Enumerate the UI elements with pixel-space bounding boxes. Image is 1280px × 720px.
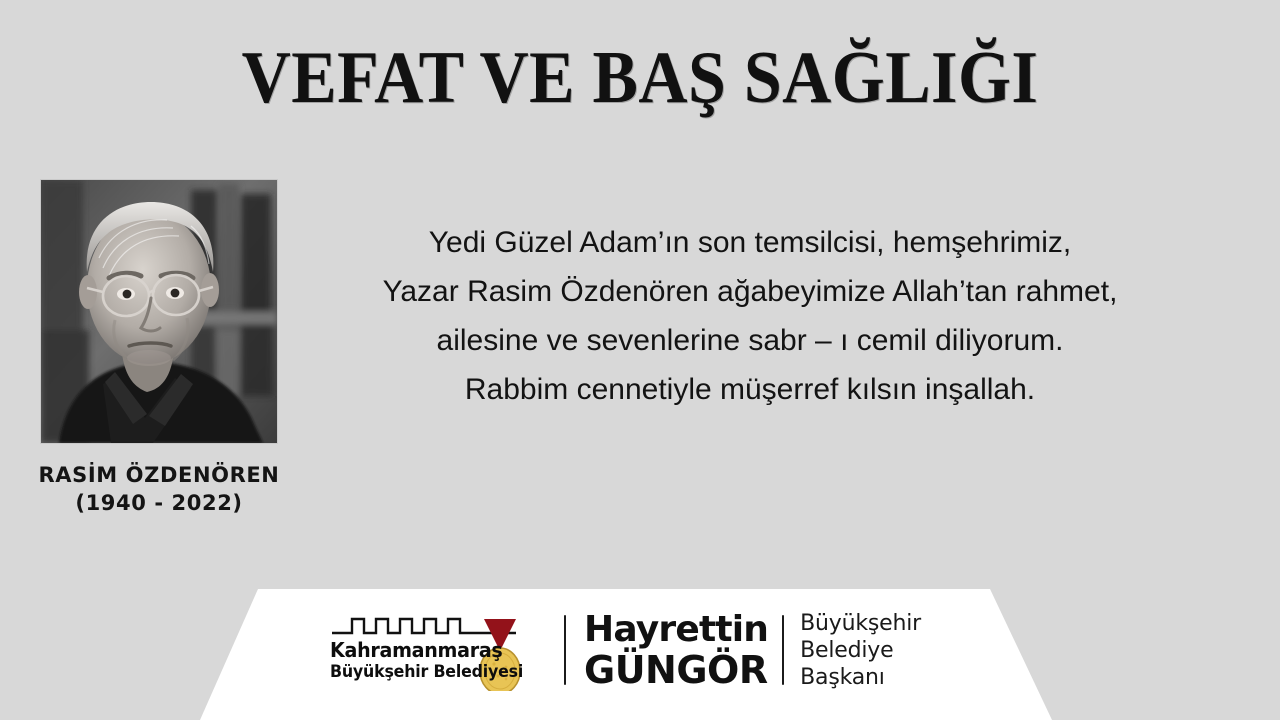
- municipality-line1: Kahramanmaraş: [330, 639, 503, 662]
- portrait-caption-years: (1940 - 2022): [0, 488, 318, 518]
- mayor-title-line-1: Büyükşehir: [800, 610, 921, 637]
- mayor-title-line-3: Başkanı: [800, 664, 921, 691]
- portrait-caption: RASİM ÖZDENÖREN (1940 - 2022): [0, 462, 318, 518]
- mayor-title-line-2: Belediye: [800, 637, 921, 664]
- mayor-first-name: Hayrettin: [584, 610, 768, 650]
- condolence-slide: VEFAT VE BAŞ SAĞLIĞI: [0, 0, 1280, 720]
- logo-divider-1: [564, 615, 566, 685]
- message-line-2: Yazar Rasim Özdenören ağabeyimize Allah’…: [290, 267, 1210, 316]
- municipality-line2: Büyükşehir Belediyesi: [330, 662, 503, 683]
- mayor-last-name: GÜNGÖR: [584, 650, 768, 690]
- message-line-4: Rabbim cennetiyle müşerref kılsın inşall…: [290, 365, 1210, 414]
- logo-divider-2: [782, 615, 784, 685]
- kahramanmaras-logo: Kahramanmaraş Büyükşehir Belediyesi: [330, 609, 546, 691]
- message-line-3: ailesine ve sevenlerine sabr – ı cemil d…: [290, 316, 1210, 365]
- footer-logos: Kahramanmaraş Büyükşehir Belediyesi Hayr…: [330, 608, 950, 692]
- municipality-wordmark: Kahramanmaraş Büyükşehir Belediyesi: [330, 639, 516, 683]
- mayor-title: Büyükşehir Belediye Başkanı: [800, 610, 921, 691]
- mayor-name: Hayrettin GÜNGÖR: [584, 610, 768, 690]
- message-line-1: Yedi Güzel Adam’ın son temsilcisi, hemşe…: [290, 218, 1210, 267]
- portrait-photo: [41, 180, 277, 443]
- portrait-block: [41, 180, 277, 443]
- condolence-message: Yedi Güzel Adam’ın son temsilcisi, hemşe…: [290, 218, 1210, 414]
- page-title: VEFAT VE BAŞ SAĞLIĞI: [51, 38, 1229, 118]
- portrait-caption-name: RASİM ÖZDENÖREN: [0, 462, 318, 488]
